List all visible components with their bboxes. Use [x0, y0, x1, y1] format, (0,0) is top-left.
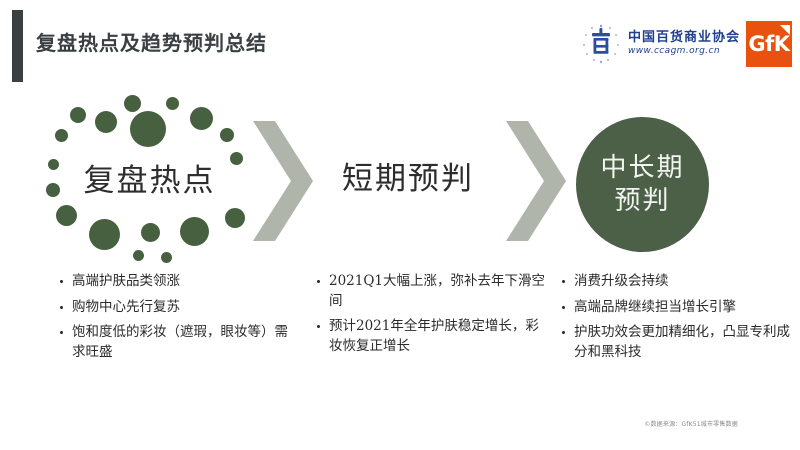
- ccagm-logo: 中国百货商业协会 www.ccagm.org.cn: [578, 21, 740, 67]
- list-item: 消费升级会持续: [560, 272, 790, 292]
- stage-flow: 复盘热点 短期预判 中长期 预判: [0, 95, 800, 270]
- column-short-term: 2021Q1大幅上涨，弥补去年下滑空间 预计2021年全年护肤稳定增长，彩妆恢复…: [315, 272, 550, 362]
- list-item: 护肤功效会更加精细化，凸显专利成分和黑科技: [560, 323, 790, 362]
- ccagm-name-cn: 中国百货商业协会: [628, 31, 740, 45]
- chevron-arrow-1-icon: [253, 117, 315, 249]
- gfk-logo: GfK: [746, 21, 792, 67]
- logo-group: 中国百货商业协会 www.ccagm.org.cn GfK: [578, 18, 792, 70]
- stage-review-hotspots-label: 复盘热点: [42, 155, 257, 200]
- stage-mid-long-term-label-line1: 中长期: [600, 152, 684, 185]
- chevron-arrow-2-icon: [506, 117, 568, 249]
- list-item: 2021Q1大幅上涨，弥补去年下滑空间: [315, 272, 550, 311]
- ccagm-url: www.ccagm.org.cn: [628, 47, 740, 57]
- list-item: 购物中心先行复苏: [58, 298, 298, 318]
- bullet-list: 2021Q1大幅上涨，弥补去年下滑空间 预计2021年全年护肤稳定增长，彩妆恢复…: [315, 272, 550, 356]
- page-title: 复盘热点及趋势预判总结: [36, 27, 267, 56]
- stage-mid-long-term-label-line2: 预判: [614, 185, 670, 218]
- column-review-hotspots: 高端护肤品类领涨 购物中心先行复苏 饱和度低的彩妆（遮瑕，眼妆等）需求旺盛: [58, 272, 298, 368]
- ccagm-wordmark: 中国百货商业协会 www.ccagm.org.cn: [628, 31, 740, 56]
- stage-mid-long-term-graphic: 中长期 预判: [576, 117, 709, 252]
- list-item: 高端护肤品类领涨: [58, 272, 298, 292]
- ccagm-emblem-icon: [578, 21, 624, 67]
- bullet-list: 消费升级会持续 高端品牌继续担当增长引擎 护肤功效会更加精细化，凸显专利成分和黑…: [560, 272, 790, 362]
- source-note: ©数据来源：GfK51城市零售数据: [644, 419, 738, 428]
- list-item: 饱和度低的彩妆（遮瑕，眼妆等）需求旺盛: [58, 323, 298, 362]
- list-item: 预计2021年全年护肤稳定增长，彩妆恢复正增长: [315, 317, 550, 356]
- bullet-columns: 高端护肤品类领涨 购物中心先行复苏 饱和度低的彩妆（遮瑕，眼妆等）需求旺盛 20…: [0, 272, 800, 402]
- slide-canvas: 复盘热点及趋势预判总结: [0, 0, 800, 450]
- list-item: 高端品牌继续担当增长引擎: [560, 298, 790, 318]
- stage-short-term-label: 短期预判: [318, 153, 498, 198]
- bullet-list: 高端护肤品类领涨 购物中心先行复苏 饱和度低的彩妆（遮瑕，眼妆等）需求旺盛: [58, 272, 298, 362]
- title-accent-bar: [12, 10, 23, 82]
- column-mid-long-term: 消费升级会持续 高端品牌继续担当增长引擎 护肤功效会更加精细化，凸显专利成分和黑…: [560, 272, 790, 368]
